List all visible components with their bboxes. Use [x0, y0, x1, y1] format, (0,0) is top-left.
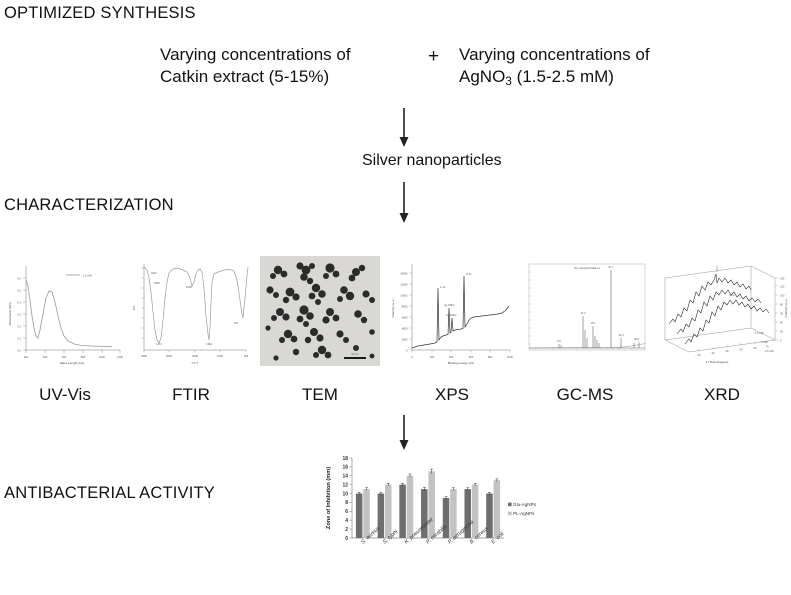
svg-text:8000: 8000	[402, 305, 408, 309]
svg-text:50: 50	[740, 348, 743, 352]
svg-text:Ag 3d3/2: Ag 3d3/2	[446, 313, 457, 317]
svg-text:60: 60	[780, 312, 783, 316]
svg-text:120: 120	[780, 285, 785, 289]
svg-text:12.4: 12.4	[580, 311, 586, 315]
svg-text:Zone of Inhibition (mm): Zone of Inhibition (mm)	[326, 467, 332, 529]
svg-text:60: 60	[754, 346, 757, 350]
reagent-left: Varying concentrations of Catkin extract…	[160, 44, 351, 88]
svg-text:O 1s: O 1s	[466, 272, 472, 276]
svg-text:50 nm: 50 nm	[351, 352, 358, 356]
svg-text:1384: 1384	[206, 342, 212, 346]
svg-text:20: 20	[780, 330, 783, 334]
arrow-down-to-characterization	[393, 182, 415, 224]
svg-text:2000: 2000	[192, 354, 198, 358]
bar	[385, 485, 392, 538]
section-heading-antibacterial: ANTIBACTERIAL ACTIVITY	[4, 484, 215, 503]
arrow-down-to-product	[393, 108, 415, 148]
svg-text:TIC: sample.D\data.ms: TIC: sample.D\data.ms	[574, 266, 601, 270]
svg-text:2923: 2923	[154, 281, 160, 285]
svg-text:600: 600	[62, 355, 67, 359]
bar	[472, 485, 479, 538]
svg-text:C 1s: C 1s	[440, 285, 446, 289]
svg-text:800: 800	[81, 355, 86, 359]
svg-text:0: 0	[780, 339, 782, 343]
svg-text:400: 400	[449, 355, 454, 359]
agno3-formula-subscript: 3	[505, 74, 512, 88]
svg-text:2 mM: 2 mM	[761, 340, 767, 344]
svg-text:0: 0	[345, 536, 348, 542]
svg-text:(111): (111)	[729, 293, 735, 297]
legend-label: PL-AgNPs	[513, 511, 535, 516]
panel-xps[interactable]: 0 2000 4000 6000 8000 10000 12000 14000 …	[388, 258, 516, 366]
svg-text:15.1: 15.1	[590, 321, 596, 325]
svg-text:1635: 1635	[186, 285, 192, 289]
svg-text:617: 617	[234, 321, 239, 325]
svg-text:200: 200	[430, 355, 435, 359]
svg-text:400: 400	[43, 355, 48, 359]
svg-text:6000: 6000	[402, 316, 408, 320]
svg-text:800: 800	[488, 355, 493, 359]
svg-text:0.4: 0.4	[17, 301, 21, 305]
svg-text:0.3: 0.3	[17, 313, 21, 317]
svg-text:200: 200	[24, 355, 29, 359]
svg-text:6.2: 6.2	[557, 339, 561, 343]
svg-text:0.1: 0.1	[17, 337, 21, 341]
panel-ftir[interactable]: 4000 3000 2000 1500 500 cm-1 %T 3421 292…	[130, 258, 252, 366]
agno3-concentration: (1.5-2.5 mM)	[512, 67, 614, 86]
svg-text:Ag 3d5/2: Ag 3d5/2	[444, 303, 455, 307]
svg-text:4000: 4000	[402, 327, 408, 331]
svg-text:1.5 mM: 1.5 mM	[83, 274, 92, 278]
svg-text:0: 0	[406, 349, 408, 353]
reagent-right: Varying concentrations of AgNO3 (1.5-2.5…	[459, 44, 650, 89]
svg-text:Absorbance (OD): Absorbance (OD)	[8, 302, 12, 325]
svg-text:12: 12	[342, 482, 348, 488]
reagent-right-line2: AgNO3 (1.5-2.5 mM)	[459, 66, 650, 89]
svg-text:6: 6	[345, 509, 348, 515]
svg-text:28.9: 28.9	[634, 337, 640, 341]
svg-text:30: 30	[712, 351, 715, 355]
svg-text:10000: 10000	[400, 294, 408, 298]
svg-text:21.7: 21.7	[608, 265, 614, 269]
svg-text:0.0: 0.0	[17, 349, 21, 353]
antibacterial-bar-chart[interactable]: 024681012141618 S. aureusS. typhiK. pneu…	[318, 450, 538, 590]
panel-xrd[interactable]: 0 20 40 60 80 100 120 140 Intensity (a.u…	[655, 256, 789, 366]
agno3-formula-base: AgNO	[459, 67, 505, 86]
svg-text:40: 40	[726, 349, 729, 353]
svg-text:18: 18	[342, 456, 348, 462]
tech-label-xps: XPS	[388, 385, 516, 405]
svg-text:14: 14	[342, 474, 348, 480]
arrow-down-to-antibacterial	[393, 415, 415, 451]
svg-text:1000: 1000	[507, 355, 513, 359]
bar	[450, 489, 457, 538]
svg-text:16: 16	[342, 465, 348, 471]
svg-text:0: 0	[411, 355, 413, 359]
bar	[494, 480, 501, 538]
svg-text:1000: 1000	[99, 355, 105, 359]
svg-text:80: 80	[780, 303, 783, 307]
legend-label: Glu-AgNPs	[513, 502, 537, 507]
plus-operator: +	[428, 46, 439, 68]
tech-label-xrd: XRD	[655, 385, 789, 405]
svg-text:Intensity (a.u.): Intensity (a.u.)	[784, 298, 788, 317]
svg-text:140: 140	[780, 277, 785, 281]
svg-text:0.2: 0.2	[17, 325, 21, 329]
svg-text:%T: %T	[132, 306, 136, 311]
svg-text:3421: 3421	[151, 271, 157, 275]
bar	[407, 476, 414, 538]
svg-text:3000: 3000	[166, 354, 172, 358]
svg-text:1500: 1500	[217, 354, 223, 358]
svg-text:40: 40	[780, 321, 783, 325]
tech-label-gcms: GC-MS	[521, 385, 649, 405]
svg-text:24.3: 24.3	[618, 333, 624, 337]
svg-text:70: 70	[766, 345, 769, 349]
bar	[399, 485, 406, 538]
svg-text:4: 4	[345, 518, 348, 524]
svg-text:Wave Length (nm): Wave Length (nm)	[60, 361, 85, 365]
bar	[356, 494, 363, 538]
reagent-left-line1: Varying concentrations of	[160, 44, 351, 66]
svg-text:2 Theta (Degree): 2 Theta (Degree)	[706, 360, 729, 364]
tech-label-tem: TEM	[260, 385, 380, 405]
svg-text:Binding energy (eV): Binding energy (eV)	[448, 361, 475, 365]
svg-text:12000: 12000	[400, 283, 408, 287]
svg-text:0.6: 0.6	[17, 277, 21, 281]
tech-label-uv-vis: UV-Vis	[4, 385, 126, 405]
product-label: Silver nanoparticles	[362, 152, 502, 170]
svg-text:100: 100	[780, 294, 785, 298]
bar	[363, 489, 370, 538]
svg-text:10: 10	[342, 491, 348, 497]
panel-gcms[interactable]: TIC: sample.D\data.ms 12.4 15.1 21.7 24.…	[521, 258, 649, 366]
panel-tem[interactable]: 50 nm	[260, 256, 380, 366]
reagent-left-line2: Catkin extract (5-15%)	[160, 66, 351, 88]
svg-text:2.5 mM: 2.5 mM	[765, 349, 774, 353]
reagent-right-line1: Varying concentrations of	[459, 44, 650, 66]
svg-text:500: 500	[244, 354, 249, 358]
svg-text:14000: 14000	[400, 272, 408, 276]
panel-uv-vis[interactable]: 0.0 0.1 0.2 0.3 0.4 0.5 0.6 200 400 600 …	[4, 258, 126, 366]
bar	[428, 471, 435, 538]
tech-label-ftir: FTIR	[130, 385, 252, 405]
svg-text:cm-1: cm-1	[192, 361, 199, 365]
section-heading-characterization: CHARACTERIZATION	[4, 196, 174, 215]
svg-text:4000: 4000	[141, 354, 147, 358]
svg-text:600: 600	[469, 355, 474, 359]
svg-text:8: 8	[345, 500, 348, 506]
svg-text:1200: 1200	[117, 355, 123, 359]
svg-text:20: 20	[698, 353, 701, 357]
svg-text:1.5 mM: 1.5 mM	[755, 331, 764, 335]
svg-text:0.5: 0.5	[17, 289, 21, 293]
svg-text:Intensity (a.u.): Intensity (a.u.)	[391, 298, 395, 317]
svg-text:1072: 1072	[156, 342, 162, 346]
svg-text:2000: 2000	[402, 338, 408, 342]
section-heading-synthesis: OPTIMIZED SYNTHESIS	[4, 4, 196, 23]
svg-text:2: 2	[345, 527, 348, 533]
